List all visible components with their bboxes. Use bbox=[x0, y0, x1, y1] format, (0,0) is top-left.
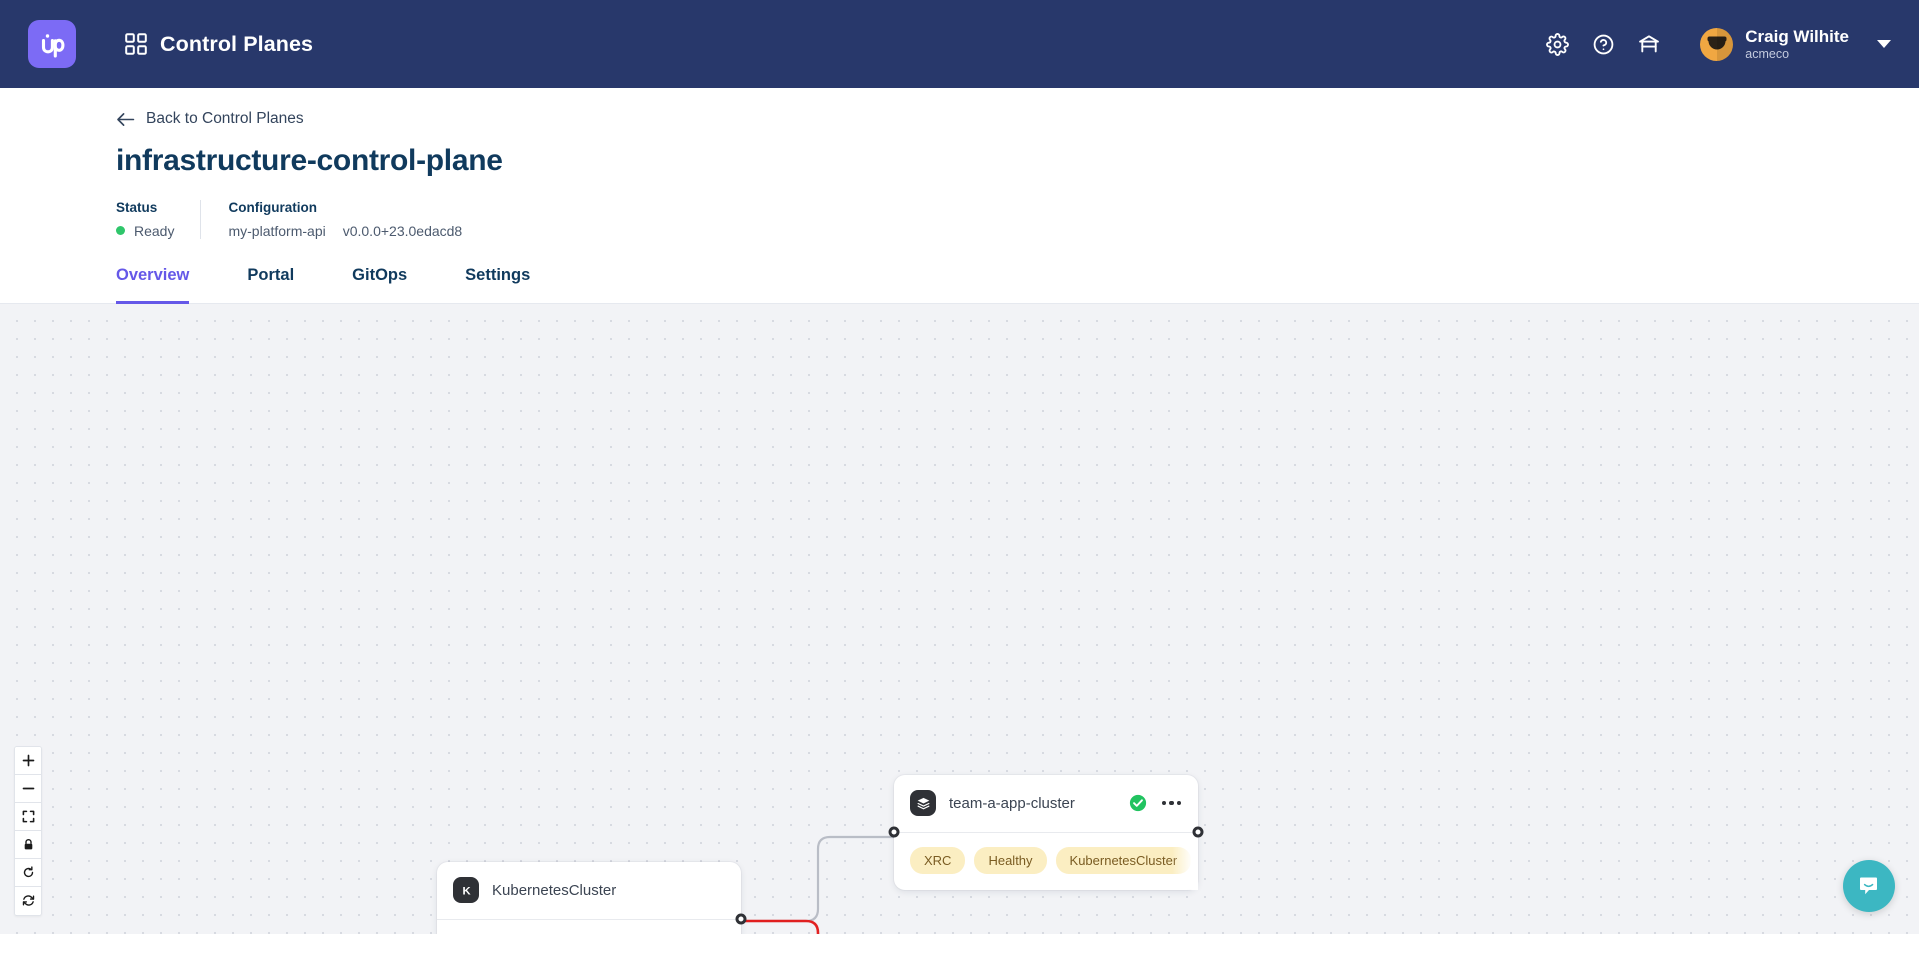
input-port[interactable] bbox=[889, 826, 900, 837]
graph-canvas[interactable]: K KubernetesCluster API team-a-app-clust… bbox=[0, 304, 1919, 934]
page-title: infrastructure-control-plane bbox=[116, 144, 1919, 178]
back-link-label: Back to Control Planes bbox=[146, 110, 304, 128]
page-header: Back to Control Planes infrastructure-co… bbox=[0, 88, 1919, 239]
nav-title: Control Planes bbox=[160, 32, 313, 57]
help-circle-icon[interactable] bbox=[1580, 21, 1626, 67]
tab-settings[interactable]: Settings bbox=[465, 266, 530, 304]
svg-text:K: K bbox=[462, 885, 471, 897]
badge: KubernetesCluster bbox=[1056, 847, 1192, 874]
output-port[interactable] bbox=[736, 913, 747, 924]
node-header: K KubernetesCluster bbox=[437, 862, 741, 919]
node-title: KubernetesCluster bbox=[492, 882, 616, 899]
edge-k8s-to-team-b bbox=[741, 921, 894, 934]
grid-icon bbox=[125, 33, 147, 55]
user-name: Craig Wilhite bbox=[1745, 27, 1849, 46]
configuration-name[interactable]: my-platform-api bbox=[228, 223, 325, 239]
canvas-controls bbox=[14, 746, 42, 916]
gear-icon[interactable] bbox=[1534, 21, 1580, 67]
badge: Healthy bbox=[974, 847, 1046, 874]
status-badge: Ready bbox=[116, 223, 174, 239]
top-navigation-bar: Control Planes bbox=[0, 0, 1919, 88]
back-to-control-planes-link[interactable]: Back to Control Planes bbox=[116, 110, 304, 128]
layers-icon bbox=[910, 790, 936, 816]
status-value: Ready bbox=[134, 223, 174, 239]
output-port[interactable] bbox=[1193, 826, 1204, 837]
reset-button[interactable] bbox=[15, 859, 41, 887]
user-org: acmeco bbox=[1745, 47, 1849, 61]
configuration-block: Configuration my-platform-api v0.0.0+23.… bbox=[200, 200, 488, 239]
chevron-down-icon[interactable] bbox=[1877, 40, 1891, 48]
status-label: Status bbox=[116, 200, 174, 215]
meta-row: Status Ready Configuration my-platform-a… bbox=[116, 200, 1919, 239]
nav-control-planes[interactable]: Control Planes bbox=[125, 32, 313, 57]
tab-gitops[interactable]: GitOps bbox=[352, 266, 407, 304]
edge-k8s-to-team-a bbox=[741, 837, 894, 921]
node-badges: API bbox=[437, 920, 741, 934]
node-kubernetes-cluster[interactable]: K KubernetesCluster API bbox=[437, 862, 741, 934]
node-header: team-a-app-cluster bbox=[894, 775, 1198, 832]
fit-view-button[interactable] bbox=[15, 803, 41, 831]
topnav-actions: Craig Wilhite acmeco bbox=[1534, 21, 1891, 67]
status-block: Status Ready bbox=[116, 200, 200, 239]
tab-bar: Overview Portal GitOps Settings bbox=[0, 265, 1919, 304]
lock-button[interactable] bbox=[15, 831, 41, 859]
up-logo-icon[interactable] bbox=[28, 20, 76, 68]
check-circle-icon bbox=[1129, 794, 1147, 812]
configuration-label: Configuration bbox=[228, 200, 462, 215]
configuration-version: v0.0.0+23.0edacd8 bbox=[343, 223, 463, 239]
chat-widget-button[interactable] bbox=[1843, 860, 1895, 912]
tab-portal[interactable]: Portal bbox=[247, 266, 294, 304]
refresh-button[interactable] bbox=[15, 887, 41, 915]
marketplace-icon[interactable] bbox=[1626, 21, 1672, 67]
node-team-a-app-cluster[interactable]: team-a-app-cluster XRC Healthy Kubernete… bbox=[894, 775, 1198, 890]
avatar bbox=[1700, 28, 1733, 61]
zoom-out-button[interactable] bbox=[15, 775, 41, 803]
node-title: team-a-app-cluster bbox=[949, 795, 1075, 812]
ellipsis-icon[interactable] bbox=[1161, 797, 1183, 810]
status-dot-icon bbox=[116, 226, 125, 235]
zoom-in-button[interactable] bbox=[15, 747, 41, 775]
badge: XRC bbox=[910, 847, 965, 874]
arrow-left-icon bbox=[116, 112, 135, 127]
user-menu[interactable]: Craig Wilhite acmeco bbox=[1700, 27, 1891, 60]
node-badges: XRC Healthy KubernetesCluster bbox=[894, 833, 1198, 890]
tab-overview[interactable]: Overview bbox=[116, 266, 189, 304]
kubernetes-k-icon: K bbox=[453, 877, 479, 903]
